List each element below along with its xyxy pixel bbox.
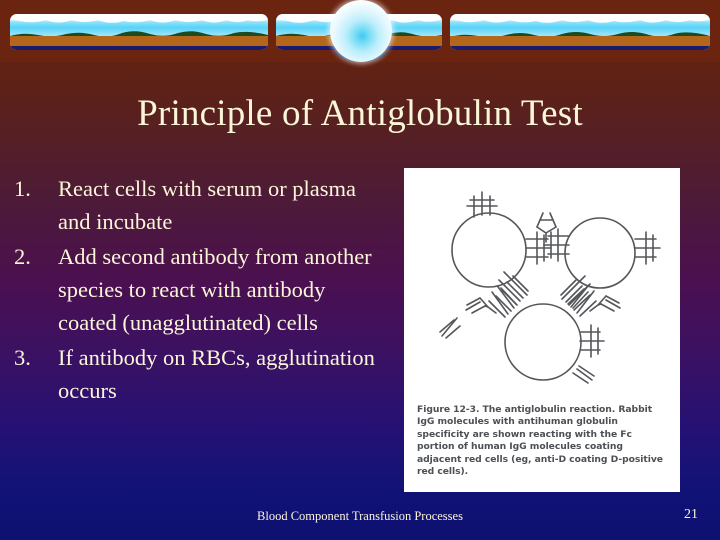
page-title: Principle of Antiglobulin Test <box>0 92 720 136</box>
cloud-icon <box>10 14 268 26</box>
list-item-number: 1. <box>12 172 58 205</box>
list-item-text: React cells with serum or plasma and inc… <box>58 172 388 238</box>
footer-title: Blood Component Transfusion Processes <box>0 508 720 524</box>
figure-caption: Figure 12-3. The antiglobulin reaction. … <box>417 404 669 478</box>
list-item-text: Add second antibody from another species… <box>58 240 388 339</box>
cloud-icon <box>450 14 710 26</box>
igg-molecule <box>573 366 594 383</box>
list-item-number: 2. <box>12 240 58 273</box>
bridging-igg-molecule <box>537 213 556 242</box>
landscape-panel-left <box>10 14 268 50</box>
igg-molecule <box>489 287 517 317</box>
igg-molecule <box>568 286 596 316</box>
list-item: 2. Add second antibody from another spec… <box>12 240 388 339</box>
water-strip <box>10 46 268 50</box>
ground-strip <box>10 36 268 46</box>
bridging-igg-molecule <box>466 298 496 313</box>
igg-molecule <box>526 232 551 264</box>
list-item-text: If antibody on RBCs, agglutination occur… <box>58 341 388 407</box>
header-banner <box>0 0 720 62</box>
ground-strip <box>450 36 710 46</box>
red-blood-cell <box>565 218 635 288</box>
igg-molecule <box>440 318 460 338</box>
igg-molecule <box>580 325 604 357</box>
list-item-number: 3. <box>12 341 58 374</box>
bullet-list: 1. React cells with serum or plasma and … <box>12 172 388 409</box>
water-strip <box>450 46 710 50</box>
antiglobulin-reaction-diagram <box>404 170 680 398</box>
figure-panel: Figure 12-3. The antiglobulin reaction. … <box>404 168 680 492</box>
slide: Principle of Antiglobulin Test 1. React … <box>0 0 720 540</box>
igg-molecule <box>635 232 660 264</box>
igg-molecule <box>561 276 590 308</box>
list-item: 1. React cells with serum or plasma and … <box>12 172 388 238</box>
list-item: 3. If antibody on RBCs, agglutination oc… <box>12 341 388 407</box>
footer-page-number: 21 <box>684 506 698 524</box>
red-blood-cell <box>452 213 526 287</box>
landscape-panel-right <box>450 14 710 50</box>
sun-orb-icon <box>330 0 392 62</box>
red-blood-cell <box>505 304 581 380</box>
igg-molecule <box>499 272 528 304</box>
